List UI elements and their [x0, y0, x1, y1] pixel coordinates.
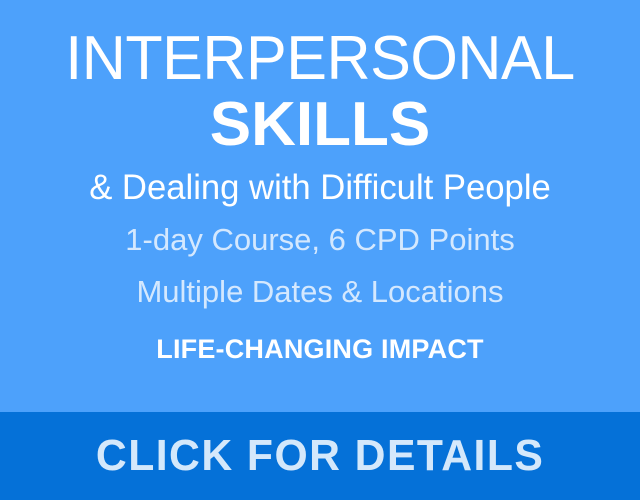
headline-line-1: INTERPERSONAL [5, 28, 635, 90]
cta-button[interactable]: CLICK FOR DETAILS [0, 412, 640, 500]
promo-banner[interactable]: INTERPERSONAL SKILLS & Dealing with Diff… [0, 0, 640, 500]
cta-button-label: CLICK FOR DETAILS [96, 432, 544, 480]
detail-course-duration: 1-day Course, 6 CPD Points [0, 222, 640, 258]
impact-statement: LIFE-CHANGING IMPACT [0, 334, 640, 364]
headline-line-2: SKILLS [0, 94, 640, 156]
detail-dates-locations: Multiple Dates & Locations [0, 274, 640, 310]
subheadline: & Dealing with Difficult People [3, 168, 637, 208]
banner-content: INTERPERSONAL SKILLS & Dealing with Diff… [0, 0, 640, 412]
